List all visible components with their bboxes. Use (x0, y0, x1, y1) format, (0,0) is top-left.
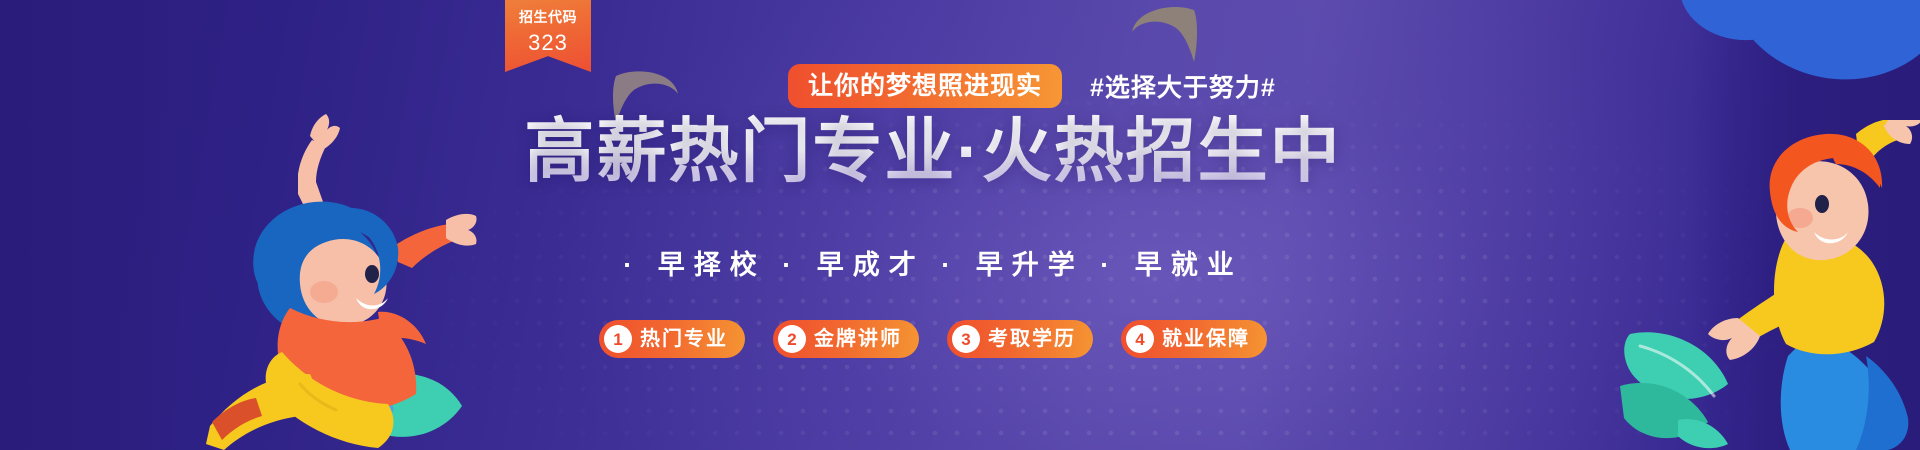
feature-badge-number: 2 (778, 325, 806, 353)
feature-badge-list: 1 热门专业 2 金牌讲师 3 考取学历 4 就业保障 (508, 320, 1358, 358)
tagline-pill: 让你的梦想照进现实 (788, 64, 1062, 108)
feature-badge-number: 4 (1126, 325, 1154, 353)
feature-badge[interactable]: 1 热门专业 (599, 320, 745, 358)
feature-badge[interactable]: 2 金牌讲师 (773, 320, 919, 358)
feature-badge-number: 3 (952, 325, 980, 353)
tagline-row: 让你的梦想照进现实 #选择大于努力# (788, 64, 1276, 108)
feature-badge-label: 就业保障 (1162, 329, 1250, 349)
feature-badge[interactable]: 3 考取学历 (947, 320, 1093, 358)
feature-badge[interactable]: 4 就业保障 (1121, 320, 1267, 358)
admission-code-label: 招生代码 (505, 0, 591, 24)
feature-badge-label: 热门专业 (640, 329, 728, 349)
promo-banner: 招生代码 323 让你的梦想照进现实 #选择大于努力# 高薪热门专业·火热招生中… (0, 0, 1920, 450)
tagline-hashtag: #选择大于努力# (1090, 68, 1276, 104)
cheering-woman-illustration (150, 86, 480, 450)
feature-badge-label: 考取学历 (988, 329, 1076, 349)
feature-badge-label: 金牌讲师 (814, 329, 902, 349)
headline: 高薪热门专业·火热招生中 (508, 112, 1358, 190)
swoosh-decor-right (1128, 6, 1198, 64)
admission-code-value: 323 (505, 24, 591, 54)
subtitle: · 早择校 · 早成才 · 早升学 · 早就业 (508, 252, 1358, 279)
feature-badge-number: 1 (604, 325, 632, 353)
cheering-man-illustration (1620, 120, 1920, 450)
